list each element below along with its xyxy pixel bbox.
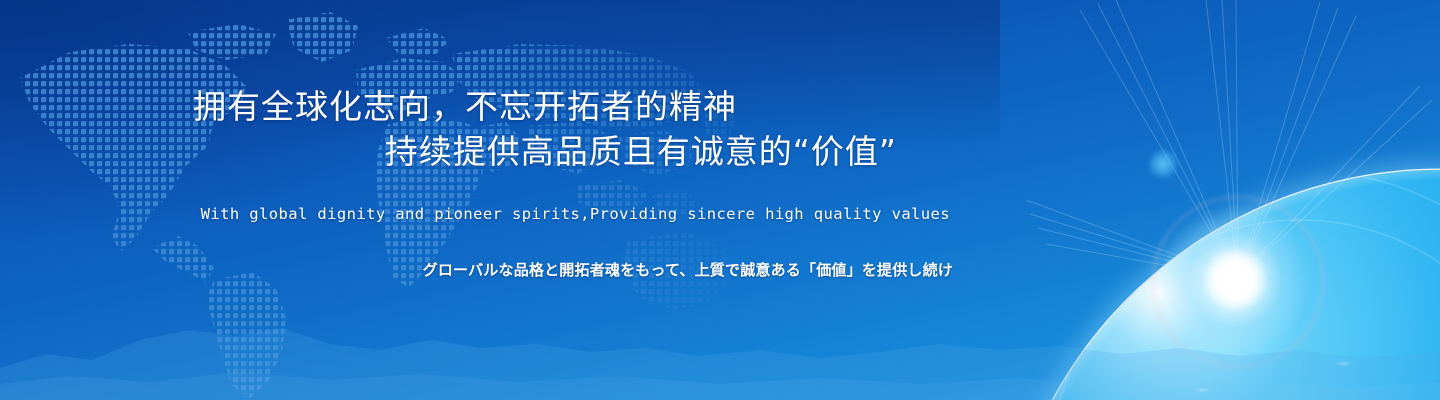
planet-cloud-texture: [1000, 170, 1440, 400]
headline-line-2: 持续提供高品质且有诚意的“价值”: [0, 129, 905, 174]
world-map-dots: [0, 0, 820, 400]
banner-copy: 拥有全球化志向，不忘开拓者的精神 持续提供高品质且有诚意的“价值” With g…: [0, 0, 1440, 400]
planet-body: [1000, 170, 1440, 400]
sun-glow: [1160, 205, 1310, 355]
corporate-philosophy-hero-banner: 拥有全球化志向，不忘开拓者的精神 持续提供高品质且有诚意的“价值” With g…: [0, 0, 1440, 400]
mountain-silhouette: [0, 310, 1440, 400]
subtitle-japanese: グローバルな品格と開拓者魂をもって、上質で誠意ある「価値」を提供し続け: [0, 259, 953, 280]
sun-core: [1205, 250, 1265, 310]
headline-line-1: 拥有全球化志向，不忘开拓者的精神: [0, 84, 905, 129]
top-vignette-overlay: [0, 0, 1000, 150]
planet-arc-lines: [1000, 170, 1440, 400]
headline: 拥有全球化志向，不忘开拓者的精神 持续提供高品质且有诚意的“价值”: [0, 84, 905, 174]
earth-globe-graphic: [880, 0, 1440, 400]
lens-flare-dot: [1148, 149, 1178, 179]
light-rays: [1020, 0, 1440, 330]
lens-flare-ring: [1152, 196, 1324, 368]
planet-atmosphere-rim: [1000, 170, 1440, 400]
subtitle-english: With global dignity and pioneer spirits,…: [0, 205, 950, 223]
left-vignette-overlay: [0, 0, 620, 260]
